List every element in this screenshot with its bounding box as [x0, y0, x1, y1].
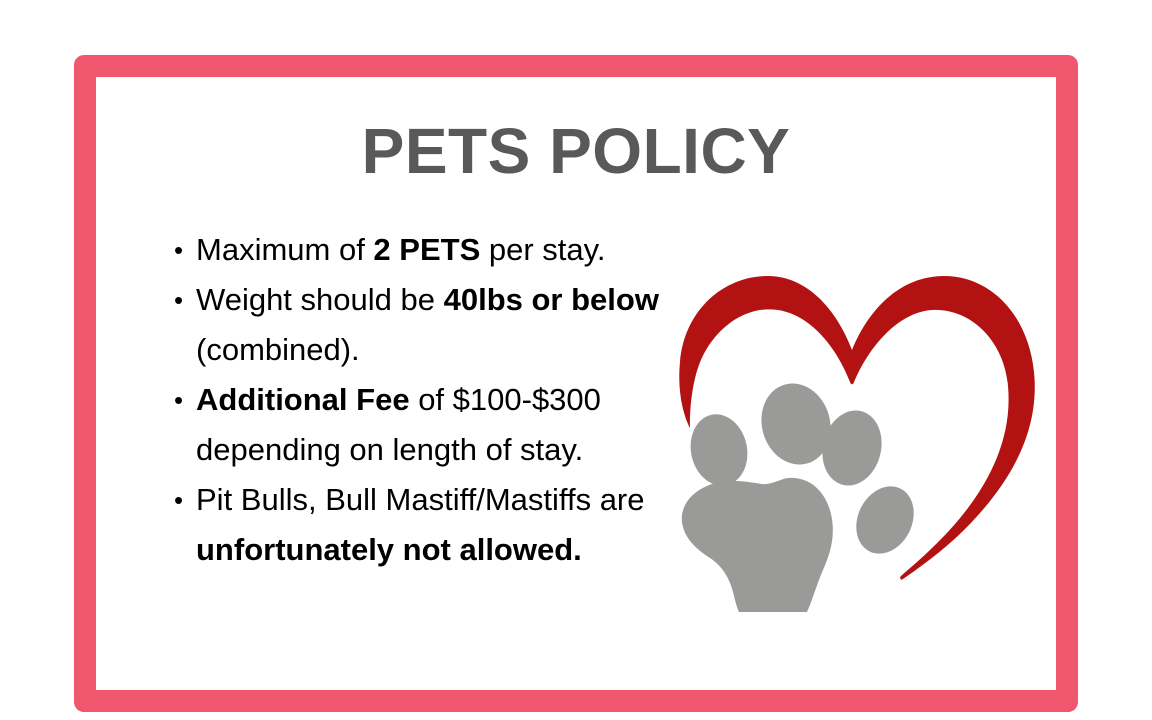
list-item-text: Weight should be 40lbs or below (combine…: [196, 282, 659, 367]
bullet-marker-icon: •: [174, 475, 196, 525]
bullet-marker-icon: •: [174, 375, 196, 425]
list-item-text-segment: Pit Bulls, Bull Mastiff/Mastiffs are: [196, 482, 645, 517]
list-item-text-segment: (combined).: [196, 332, 360, 367]
list-item: •Additional Fee of $100-$300 depending o…: [174, 375, 672, 475]
list-item-text-segment: 2 PETS: [373, 232, 480, 267]
list-item-text: Maximum of 2 PETS per stay.: [196, 232, 605, 267]
paw-toe-top-center: [684, 409, 754, 491]
bullet-marker-icon: •: [174, 225, 196, 275]
page-title: PETS POLICY: [96, 118, 1056, 185]
bullet-marker-icon: •: [174, 275, 196, 325]
policy-bullet-list: •Maximum of 2 PETS per stay.•Weight shou…: [152, 225, 672, 575]
list-item-text: Pit Bulls, Bull Mastiff/Mastiffs are unf…: [196, 482, 645, 567]
list-item-text-segment: 40lbs or below: [444, 282, 659, 317]
list-item-text-segment: unfortunately not allowed.: [196, 532, 582, 567]
list-item-text-segment: Weight should be: [196, 282, 444, 317]
list-item-text-segment: Additional Fee: [196, 382, 410, 417]
list-item: •Weight should be 40lbs or below (combin…: [174, 275, 672, 375]
list-item-text-segment: Maximum of: [196, 232, 373, 267]
pets-policy-slide: PETS POLICY •Maximum of 2 PETS per stay.…: [0, 0, 1152, 720]
paw-main-pad: [682, 478, 833, 612]
list-item: •Pit Bulls, Bull Mastiff/Mastiffs are un…: [174, 475, 672, 575]
heart-paw-logo: [660, 262, 1040, 612]
list-item-text-segment: per stay.: [480, 232, 605, 267]
paw-toe-right: [845, 477, 924, 564]
list-item-text: Additional Fee of $100-$300 depending on…: [196, 382, 601, 467]
list-item: •Maximum of 2 PETS per stay.: [174, 225, 672, 275]
